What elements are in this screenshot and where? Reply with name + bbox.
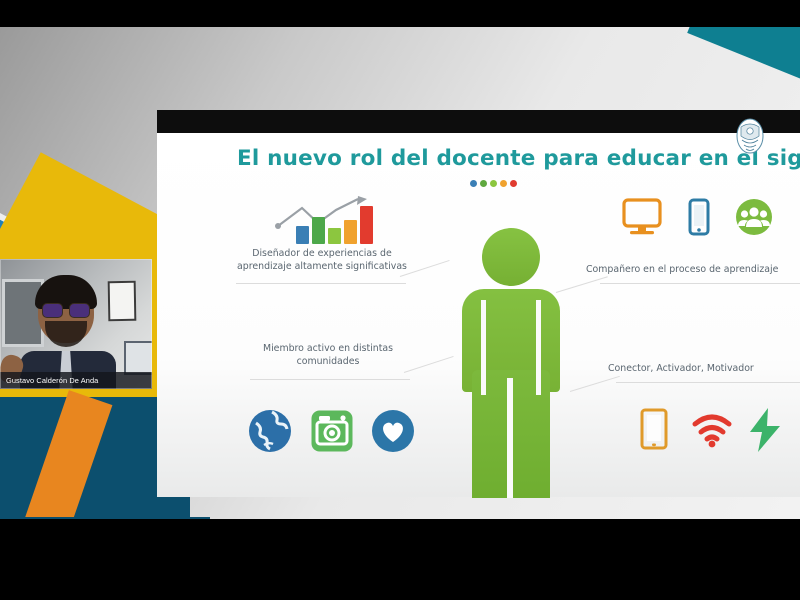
wifi-icon <box>691 412 733 448</box>
wall-picture-frame <box>108 281 137 321</box>
participant-name: Gustavo Calderón De Anda <box>0 376 98 385</box>
university-crest-icon <box>735 118 765 156</box>
dot-5 <box>510 180 517 187</box>
camera-social-icon <box>310 409 354 453</box>
tablet-icon <box>640 408 668 450</box>
heart-icon <box>371 409 415 453</box>
chart-bar-2 <box>312 217 325 244</box>
slide-header-bar <box>157 110 800 133</box>
label-left-bottom-line1: Miembro activo en distintas <box>238 342 418 355</box>
letterbox-bottom <box>0 519 800 600</box>
connector-right-bottom <box>616 382 800 383</box>
label-right-top: Compañero en el proceso de aprendizaje <box>586 263 800 276</box>
dot-3 <box>490 180 497 187</box>
slide-title: El nuevo rol del docente para educar en … <box>237 146 757 171</box>
participant-name-strip: Gustavo Calderón De Anda <box>0 372 152 389</box>
participant-glasses <box>42 303 90 316</box>
label-left-top: Diseñador de experiencias de aprendizaje… <box>222 247 422 273</box>
bar-chart-growth-icon <box>272 196 376 244</box>
smartphone-icon <box>688 198 710 236</box>
globe-icon <box>248 409 292 453</box>
glasses-lens-right <box>69 303 90 318</box>
label-left-bottom: Miembro activo en distintas comunidades <box>238 342 418 368</box>
chart-bar-3 <box>328 228 341 244</box>
letterbox-top <box>0 0 800 27</box>
glasses-lens-left <box>42 303 63 318</box>
wall-picture-frame-2 <box>124 341 152 375</box>
dot-4 <box>500 180 507 187</box>
chart-bar-5 <box>360 206 373 244</box>
label-left-top-line2: aprendizaje altamente significativas <box>222 260 422 273</box>
slide-dot-accents <box>470 180 517 187</box>
person-head <box>482 228 540 286</box>
chart-bar-4 <box>344 220 357 244</box>
connector-left-bottom <box>250 379 410 380</box>
dot-2 <box>480 180 487 187</box>
connector-right-top <box>600 283 800 284</box>
dot-1 <box>470 180 477 187</box>
lightning-bolt-icon <box>748 408 782 452</box>
participant-video-tile[interactable]: Gustavo Calderón De Anda <box>0 259 152 389</box>
person-arm-gap-left <box>481 300 486 395</box>
label-left-top-line1: Diseñador de experiencias de <box>222 247 422 260</box>
connector-left-top <box>236 283 406 284</box>
person-leg-gap <box>507 378 513 498</box>
monitor-icon <box>622 198 662 236</box>
label-right-bottom: Conector, Activador, Motivador <box>608 362 800 375</box>
label-left-bottom-line2: comunidades <box>238 355 418 368</box>
chart-bar-1 <box>296 226 309 244</box>
person-arm-gap-right <box>536 300 541 395</box>
people-group-icon <box>735 198 773 236</box>
screen-share-viewport: El nuevo rol del docente para educar en … <box>0 0 800 600</box>
